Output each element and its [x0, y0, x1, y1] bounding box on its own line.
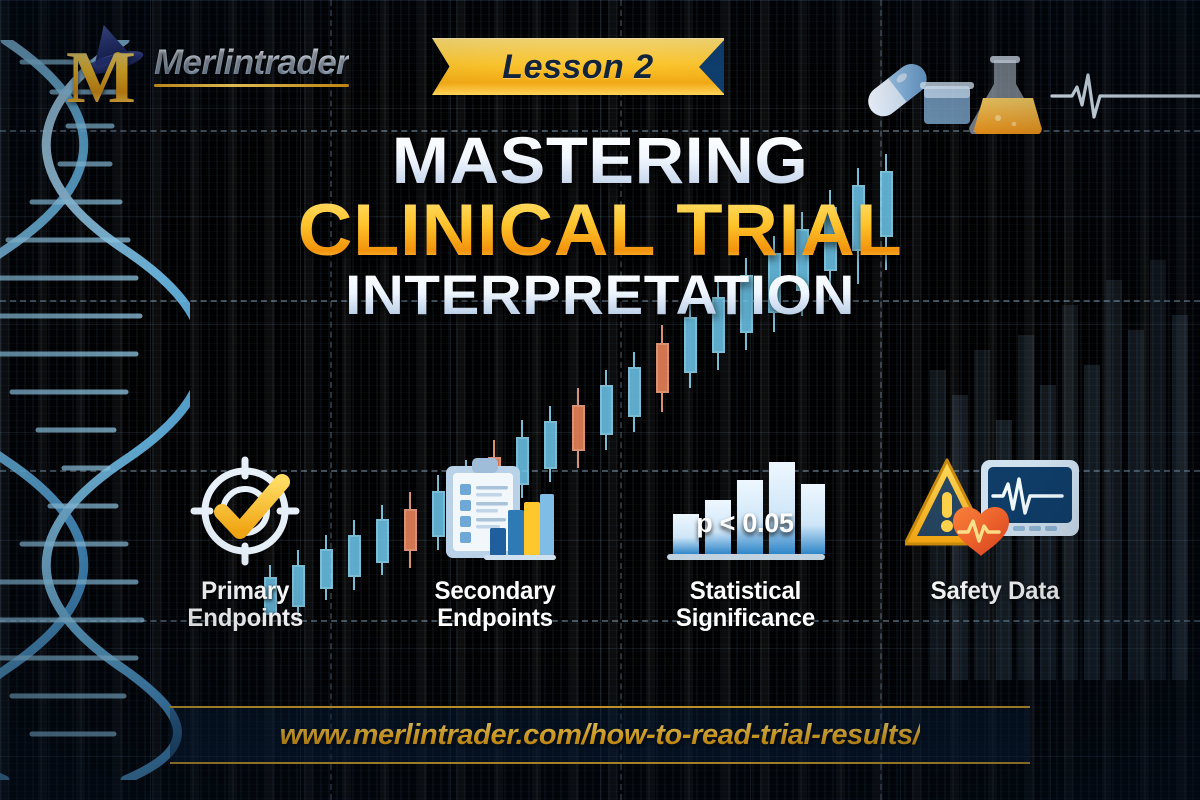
feature-label-safety-data: Safety Data	[931, 578, 1060, 605]
beaker-icon	[920, 82, 974, 124]
feature-label-statistical-significance: Statistical Significance	[675, 578, 814, 632]
title-line-1: MASTERING	[0, 128, 1200, 193]
logo-monogram: M	[66, 46, 135, 110]
feature-label-line-1: Primary	[187, 578, 303, 605]
ecg-waveform-icon	[1052, 75, 1200, 117]
lesson-badge-label: Lesson 2	[502, 48, 653, 87]
feature-item-statistical-significance[interactable]: p < 0.05 Statistical Significance	[620, 452, 870, 662]
heart-pulse-icon	[953, 507, 1009, 556]
p-value-overlay: p < 0.05	[661, 508, 829, 539]
page-title: MASTERING CLINICAL TRIAL INTERPRETATION	[0, 128, 1200, 323]
warning-heart-monitor-icon	[905, 452, 1085, 570]
bar-chart-pvalue-icon: p < 0.05	[661, 452, 829, 570]
feature-label-line-1: Statistical	[675, 578, 814, 605]
medical-icons-cluster	[848, 48, 1200, 134]
feature-row: Primary Endpoints	[120, 452, 1120, 662]
feature-label-secondary-endpoints: Secondary Endpoints	[434, 578, 555, 632]
footer-url-bar[interactable]: www.merlintrader.com/how-to-read-trial-r…	[170, 706, 1030, 764]
feature-label-line-2: Significance	[675, 605, 814, 632]
feature-label-line-2: Endpoints	[434, 605, 555, 632]
feature-label-line-2: Endpoints	[187, 605, 303, 632]
footer-url-text: www.merlintrader.com/how-to-read-trial-r…	[280, 719, 921, 752]
erlenmeyer-flask-icon	[969, 56, 1042, 134]
title-line-3: INTERPRETATION	[0, 268, 1200, 323]
feature-label-primary-endpoints: Primary Endpoints	[187, 578, 303, 632]
target-checkmark-icon	[186, 452, 304, 570]
feature-item-safety-data[interactable]: Safety Data	[870, 452, 1120, 662]
brand-name: Merlintrader	[154, 43, 349, 83]
logo-underline	[154, 84, 349, 87]
feature-item-secondary-endpoints[interactable]: Secondary Endpoints	[370, 452, 620, 662]
feature-item-primary-endpoints[interactable]: Primary Endpoints	[120, 452, 370, 662]
feature-label-line-1: Secondary	[434, 578, 555, 605]
lesson-badge[interactable]: Lesson 2	[432, 38, 724, 95]
pill-capsule-icon	[862, 58, 932, 122]
title-line-2: CLINICAL TRIAL	[0, 195, 1200, 267]
poster-canvas: M Merlintrader Lesson 2	[0, 0, 1200, 800]
wizard-hat-m-logo: M	[62, 24, 148, 106]
brand-logo[interactable]: M Merlintrader	[62, 24, 349, 106]
clipboard-barchart-icon	[434, 452, 556, 570]
feature-label-line-1: Safety Data	[931, 578, 1060, 605]
